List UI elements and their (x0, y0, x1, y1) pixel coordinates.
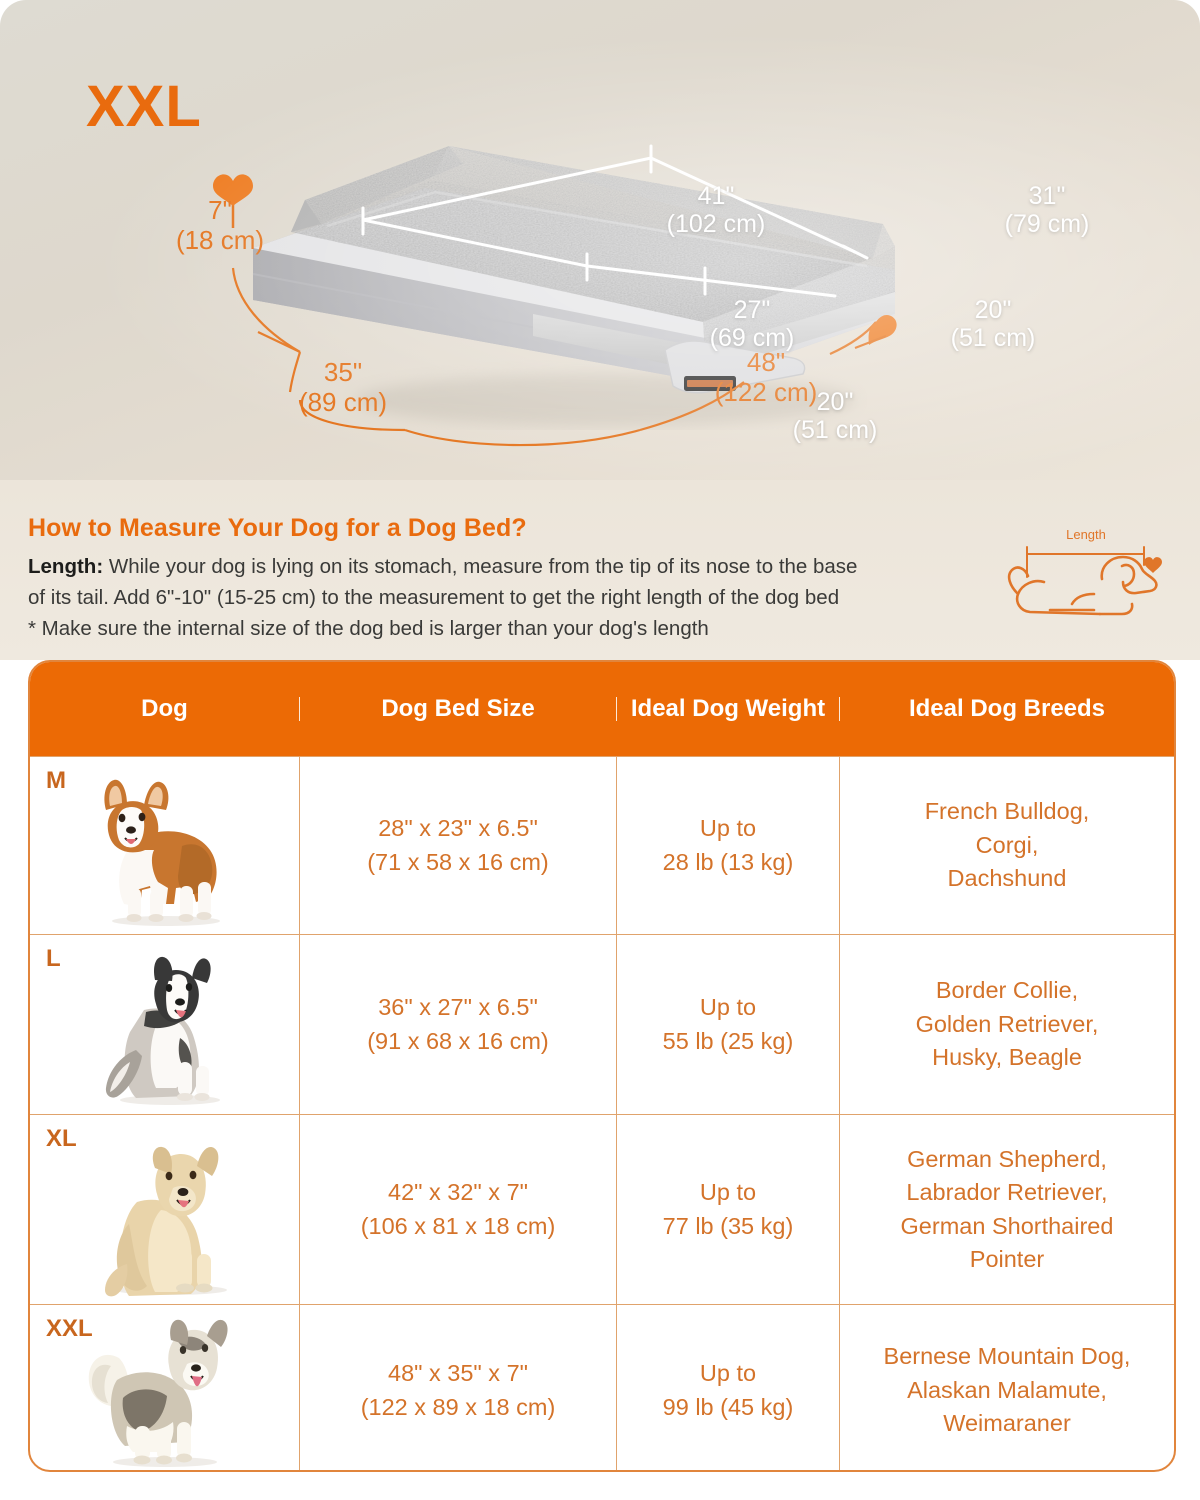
breed-line: Alaskan Malamute, (907, 1374, 1107, 1407)
size-chart-table: Dog Dog Bed Size Ideal Dog Weight Ideal … (28, 660, 1176, 1472)
breed-line: Border Collie, (936, 974, 1078, 1007)
cell-dog: XL (30, 1115, 300, 1304)
section-heading: How to Measure Your Dog for a Dog Bed? (28, 514, 527, 543)
column-header-dog: Dog (30, 697, 300, 721)
dimension-total-depth: 35" (89 cm) (268, 358, 418, 418)
bed-size-cm: (122 x 89 x 18 cm) (361, 1391, 556, 1424)
table-row: XL (30, 1114, 1174, 1304)
measure-line-1: While your dog is lying on its stomach, … (103, 555, 857, 578)
hero-product-section: XXL (0, 0, 1200, 480)
cell-weight: Up to 28 lb (13 kg) (617, 757, 840, 934)
cell-breeds: French Bulldog, Corgi, Dachshund (840, 757, 1174, 934)
table-row: L (30, 934, 1174, 1114)
column-header-breeds: Ideal Dog Breeds (840, 697, 1174, 721)
cell-weight: Up to 77 lb (35 kg) (617, 1115, 840, 1304)
cell-dog: L (30, 935, 300, 1114)
size-label: M (46, 767, 66, 795)
cell-breeds: German Shepherd, Labrador Retriever, Ger… (840, 1115, 1174, 1304)
bed-size-inches: 42" x 32" x 7" (388, 1176, 528, 1209)
table-header-row: Dog Dog Bed Size Ideal Dog Weight Ideal … (30, 662, 1174, 756)
measure-instructions: Length: While your dog is lying on its s… (28, 552, 978, 644)
bed-size-cm: (106 x 81 x 18 cm) (361, 1210, 556, 1243)
weight-prefix: Up to (700, 991, 756, 1024)
cell-bed-size: 28" x 23" x 6.5" (71 x 58 x 16 cm) (300, 757, 617, 934)
cell-breeds: Border Collie, Golden Retriever, Husky, … (840, 935, 1174, 1114)
cell-bed-size: 36" x 27" x 6.5" (91 x 68 x 16 cm) (300, 935, 617, 1114)
infographic-page: XXL (0, 0, 1200, 1500)
size-label: XXL (46, 1315, 93, 1343)
dog-photo-border-collie (30, 935, 299, 1114)
weight-prefix: Up to (700, 1176, 756, 1209)
bed-size-inches: 36" x 27" x 6.5" (378, 991, 538, 1024)
bed-size-inches: 48" x 35" x 7" (388, 1357, 528, 1390)
breed-line: Dachshund (948, 862, 1067, 895)
bed-size-inches: 28" x 23" x 6.5" (378, 812, 538, 845)
table-row: XXL (30, 1304, 1174, 1472)
breed-line: Corgi, (976, 829, 1039, 862)
weight-prefix: Up to (700, 1357, 756, 1390)
weight-value: 77 lb (35 kg) (663, 1210, 794, 1243)
dimension-height: 7" (18 cm) (160, 196, 280, 256)
bed-size-cm: (91 x 68 x 16 cm) (367, 1025, 549, 1058)
diagram-length-label: Length (1066, 527, 1106, 542)
column-header-weight: Ideal Dog Weight (617, 697, 840, 721)
cell-weight: Up to 55 lb (25 kg) (617, 935, 840, 1114)
cell-weight: Up to 99 lb (45 kg) (617, 1305, 840, 1472)
size-label: L (46, 945, 61, 973)
cell-dog: M (30, 757, 300, 934)
cell-dog: XXL (30, 1305, 300, 1472)
dog-photo-corgi (30, 757, 299, 934)
weight-value: 99 lb (45 kg) (663, 1391, 794, 1424)
column-header-bed-size: Dog Bed Size (300, 697, 617, 721)
weight-value: 55 lb (25 kg) (663, 1025, 794, 1058)
cell-bed-size: 48" x 35" x 7" (122 x 89 x 18 cm) (300, 1305, 617, 1472)
breed-line: Pointer (970, 1243, 1044, 1276)
breed-line: Labrador Retriever, (906, 1176, 1107, 1209)
length-label: Length: (28, 555, 103, 578)
measure-line-3: * Make sure the internal size of the dog… (28, 614, 978, 645)
bed-size-cm: (71 x 58 x 16 cm) (367, 846, 549, 879)
dimension-total-width: 48" (122 cm) (676, 348, 856, 408)
breed-line: French Bulldog, (925, 795, 1090, 828)
size-label: XL (46, 1125, 77, 1153)
breed-line: Golden Retriever, (916, 1008, 1099, 1041)
cell-bed-size: 42" x 32" x 7" (106 x 81 x 18 cm) (300, 1115, 617, 1304)
measure-line-2: of its tail. Add 6"-10" (15-25 cm) to th… (28, 583, 978, 614)
weight-value: 28 lb (13 kg) (663, 846, 794, 879)
table-row: M (30, 756, 1174, 934)
breed-line: German Shorthaired (901, 1210, 1114, 1243)
breed-line: Bernese Mountain Dog, (884, 1340, 1131, 1373)
dog-length-diagram-icon: Length (1002, 522, 1178, 640)
breed-line: German Shepherd, (907, 1143, 1107, 1176)
breed-line: Weimaraner (943, 1407, 1071, 1440)
weight-prefix: Up to (700, 812, 756, 845)
breed-line: Husky, Beagle (932, 1041, 1082, 1074)
cell-breeds: Bernese Mountain Dog, Alaskan Malamute, … (840, 1305, 1174, 1472)
